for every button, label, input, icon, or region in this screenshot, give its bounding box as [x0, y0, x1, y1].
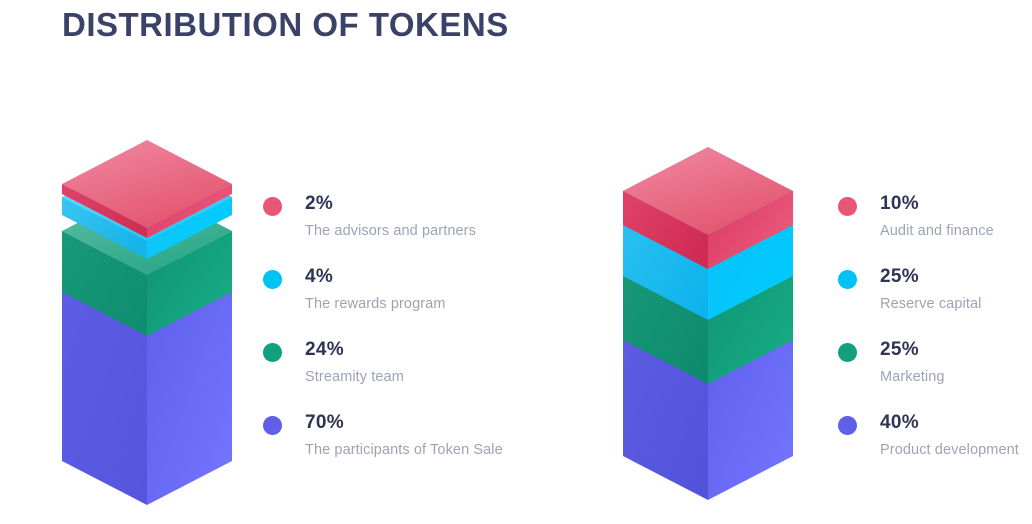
legend-item[interactable]: 4% The rewards program: [263, 266, 503, 313]
legend-color-dot-purple: [263, 416, 282, 435]
legend-color-dot-cyan: [263, 270, 282, 289]
legend-color-dot-purple: [838, 416, 857, 435]
legend-color-dot-pink: [263, 197, 282, 216]
legend-item[interactable]: 2% The advisors and partners: [263, 193, 503, 240]
legend-value: 10%: [880, 193, 1019, 215]
legend-item[interactable]: 10% Audit and finance: [838, 193, 1019, 240]
legend-value: 70%: [305, 412, 503, 434]
legend-label: Reserve capital: [880, 295, 1019, 313]
legend-item[interactable]: 24% Streamity team: [263, 339, 503, 386]
legend-label: The rewards program: [305, 295, 503, 313]
legend-value: 25%: [880, 266, 1019, 288]
legend-label: Audit and finance: [880, 222, 1019, 240]
legend-value: 40%: [880, 412, 1019, 434]
legend-value: 4%: [305, 266, 503, 288]
legend-label: Product development: [880, 441, 1019, 459]
legend-label: Streamity team: [305, 368, 503, 386]
legend-item[interactable]: 25% Reserve capital: [838, 266, 1019, 313]
isometric-stack-left: [40, 140, 270, 524]
legend-color-dot-pink: [838, 197, 857, 216]
legend-left: 2% The advisors and partners 4% The rewa…: [263, 193, 503, 459]
legend-right: 10% Audit and finance 25% Reserve capita…: [838, 193, 1019, 459]
legend-value: 2%: [305, 193, 503, 215]
token-distribution-chart-left: 2% The advisors and partners 4% The rewa…: [0, 0, 520, 524]
legend-label: The participants of Token Sale: [305, 441, 503, 459]
legend-item[interactable]: 25% Marketing: [838, 339, 1019, 386]
stack-svg-left: [40, 140, 270, 524]
legend-color-dot-green: [838, 343, 857, 362]
legend-label: The advisors and partners: [305, 222, 503, 240]
legend-item[interactable]: 70% The participants of Token Sale: [263, 412, 503, 459]
legend-value: 24%: [305, 339, 503, 361]
legend-label: Marketing: [880, 368, 1019, 386]
legend-value: 25%: [880, 339, 1019, 361]
legend-color-dot-cyan: [838, 270, 857, 289]
stack-svg-right: [610, 140, 840, 524]
isometric-stack-right: [610, 140, 840, 524]
legend-color-dot-green: [263, 343, 282, 362]
token-distribution-chart-right: 10% Audit and finance 25% Reserve capita…: [590, 0, 1032, 524]
legend-item[interactable]: 40% Product development: [838, 412, 1019, 459]
